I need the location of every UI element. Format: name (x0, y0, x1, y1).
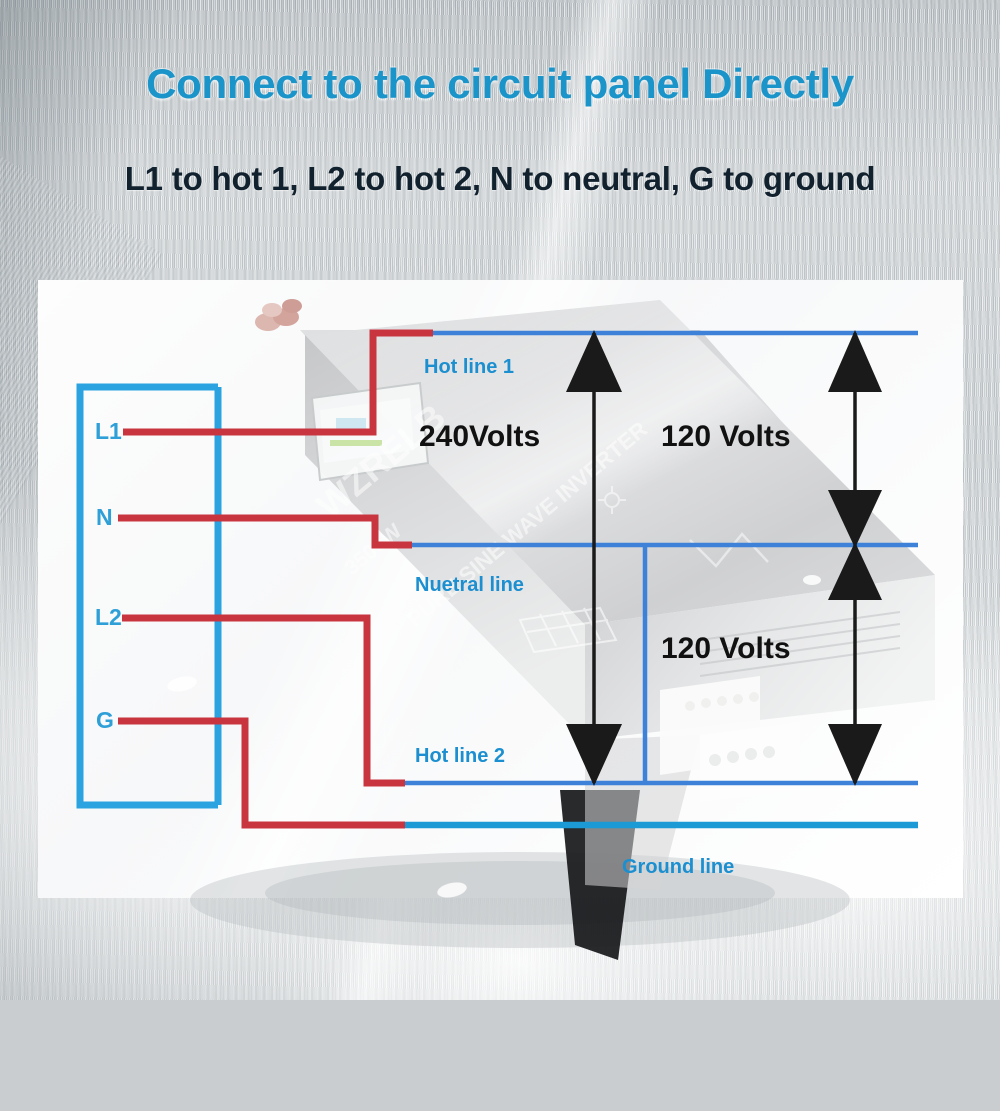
wire-l1 (123, 333, 433, 432)
circuit-panel-outline (80, 387, 218, 805)
wire-g (118, 721, 405, 825)
voltage-label-120v-bottom: 120 Volts (661, 632, 791, 666)
line-label-neutral: Nuetral line (415, 574, 524, 597)
line-label-hot-2: Hot line 2 (415, 745, 505, 768)
voltage-label-120v-top: 120 Volts (661, 420, 791, 454)
wire-l2 (122, 618, 405, 783)
terminal-label-l1: L1 (95, 418, 122, 445)
wiring-diagram-overlay (0, 0, 1000, 1000)
arrow-120v-top (828, 330, 882, 548)
line-label-ground: Ground line (622, 856, 734, 879)
arrow-240v (566, 330, 622, 786)
terminal-label-l2: L2 (95, 604, 122, 631)
terminal-label-n: N (96, 504, 113, 531)
voltage-label-240v: 240Volts (419, 420, 540, 454)
wire-n (118, 518, 412, 545)
terminal-label-g: G (96, 707, 114, 734)
arrow-120v-bottom (828, 542, 882, 786)
line-label-hot-1: Hot line 1 (424, 356, 514, 379)
